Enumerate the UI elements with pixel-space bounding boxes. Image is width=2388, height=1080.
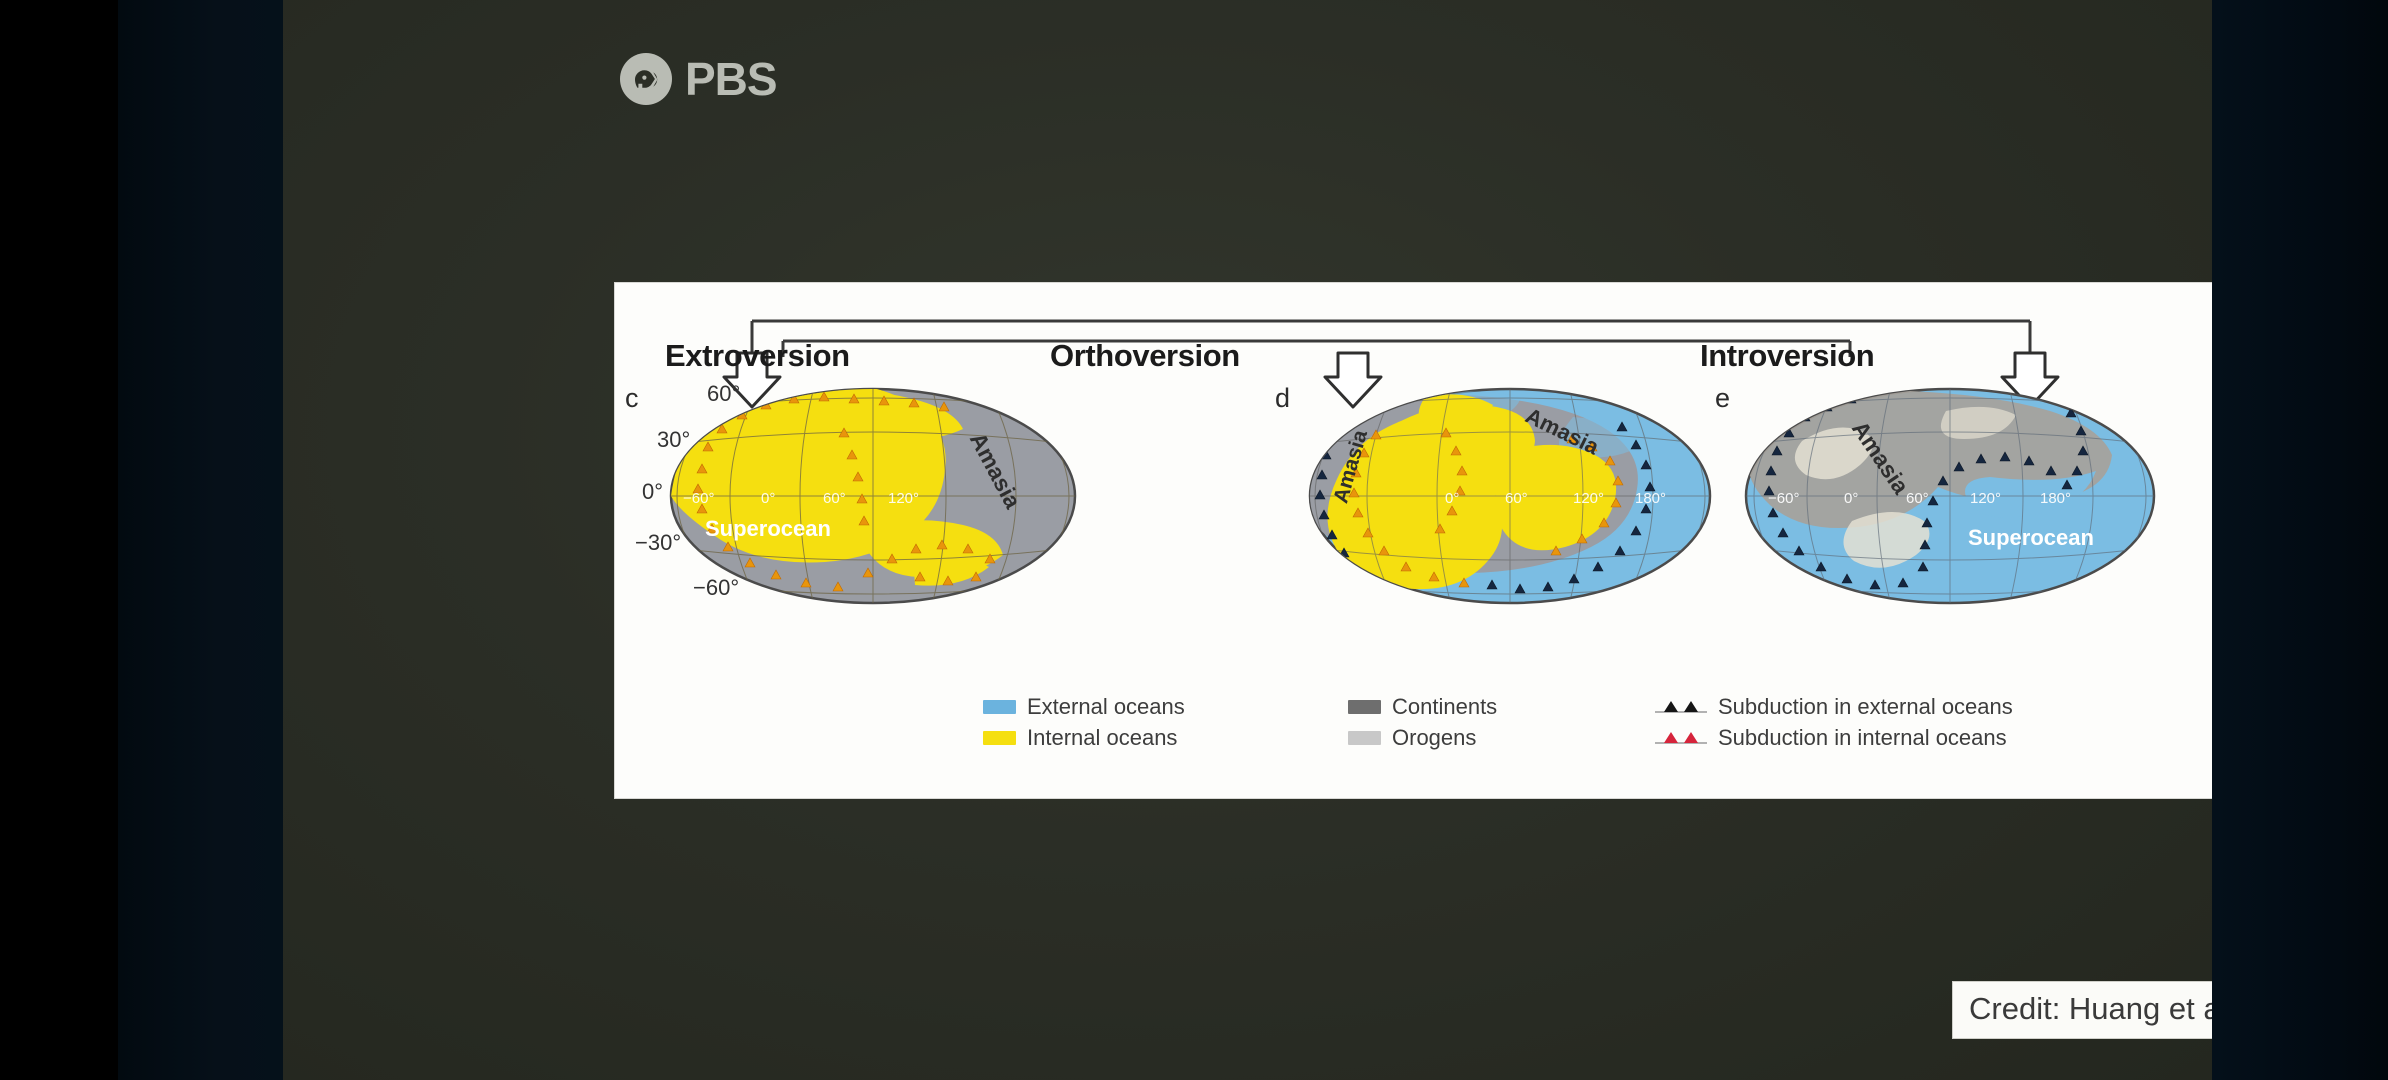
svg-text:0°: 0° xyxy=(761,490,775,507)
legend-swatch-external-oceans xyxy=(983,700,1016,714)
lat-label-60: 60° xyxy=(707,381,740,407)
legend-item-external-oceans: External oceans xyxy=(983,695,1185,719)
legend-item-internal-oceans: Internal oceans xyxy=(983,726,1185,750)
legend-label-subduction-external: Subduction in external oceans xyxy=(1718,694,2013,720)
globe-map-orthoversion: 0° 60° 120° 180° Amasia Amasia xyxy=(1305,381,1715,611)
svg-text:0°: 0° xyxy=(1445,490,1459,507)
legend-column-subduction: Subduction in external oceans Subduction… xyxy=(1655,695,2013,750)
lat-label-minus30: −30° xyxy=(635,530,681,556)
subduction-external-triangles-icon xyxy=(1655,699,1707,715)
svg-text:180°: 180° xyxy=(2040,490,2071,507)
video-frame: PBS Extrovers xyxy=(0,0,2388,1080)
legend-swatch-continents xyxy=(1348,700,1381,714)
lat-label-minus60: −60° xyxy=(693,575,739,601)
legend-item-continents: Continents xyxy=(1348,695,1497,719)
video-stage: PBS Extrovers xyxy=(283,0,2212,1080)
lat-label-0: 0° xyxy=(642,479,663,505)
legend-label-continents: Continents xyxy=(1392,694,1497,720)
legend-item-orogens: Orogens xyxy=(1348,726,1497,750)
svg-text:60°: 60° xyxy=(1906,490,1929,507)
globe-map-introversion: −60° 0° 60° 120° 180° Amasia Superocean xyxy=(1740,381,2160,611)
panel-letter-e: e xyxy=(1715,383,1730,414)
legend-column-oceans: External oceans Internal oceans xyxy=(983,695,1185,750)
svg-text:−60°: −60° xyxy=(1768,490,1799,507)
scenario-title-orthoversion: Orthoversion xyxy=(1050,338,1240,374)
pbs-wordmark: PBS xyxy=(685,52,777,106)
svg-text:60°: 60° xyxy=(823,490,846,507)
svg-text:120°: 120° xyxy=(1970,490,2001,507)
letterbox-bar-left xyxy=(0,0,118,1080)
figure-legend: External oceans Internal oceans Continen… xyxy=(615,695,2388,765)
letterbox-bar-right xyxy=(2212,0,2388,1080)
legend-column-landmasses: Continents Orogens xyxy=(1348,695,1497,750)
legend-label-orogens: Orogens xyxy=(1392,725,1476,751)
legend-label-internal-oceans: Internal oceans xyxy=(1027,725,1177,751)
svg-text:60°: 60° xyxy=(1505,490,1528,507)
scenario-title-extroversion: Extroversion xyxy=(665,338,850,374)
legend-swatch-internal-oceans xyxy=(983,731,1016,745)
legend-item-subduction-external: Subduction in external oceans xyxy=(1655,695,2013,719)
letterbox-bar-left-inner xyxy=(118,0,283,1080)
legend-label-external-oceans: External oceans xyxy=(1027,694,1185,720)
scenario-title-introversion: Introversion xyxy=(1700,338,1874,374)
svg-text:Superocean: Superocean xyxy=(1968,525,2094,550)
svg-text:120°: 120° xyxy=(1573,490,1604,507)
figure-panel: Extroversion Orthoversion Introversion c… xyxy=(615,283,2388,798)
svg-text:180°: 180° xyxy=(1635,490,1666,507)
legend-swatch-orogens xyxy=(1348,731,1381,745)
svg-text:120°: 120° xyxy=(888,490,919,507)
lat-label-30: 30° xyxy=(657,427,690,453)
svg-text:−60°: −60° xyxy=(683,490,714,507)
subduction-internal-triangles-icon xyxy=(1655,730,1707,746)
legend-item-subduction-internal: Subduction in internal oceans xyxy=(1655,726,2013,750)
panel-letter-d: d xyxy=(1275,383,1290,414)
pbs-head-icon xyxy=(620,53,672,105)
panel-letter-c: c xyxy=(625,383,639,414)
pbs-logo: PBS xyxy=(620,52,777,106)
svg-text:Superocean: Superocean xyxy=(705,516,831,541)
legend-label-subduction-internal: Subduction in internal oceans xyxy=(1718,725,2007,751)
svg-text:0°: 0° xyxy=(1844,490,1858,507)
